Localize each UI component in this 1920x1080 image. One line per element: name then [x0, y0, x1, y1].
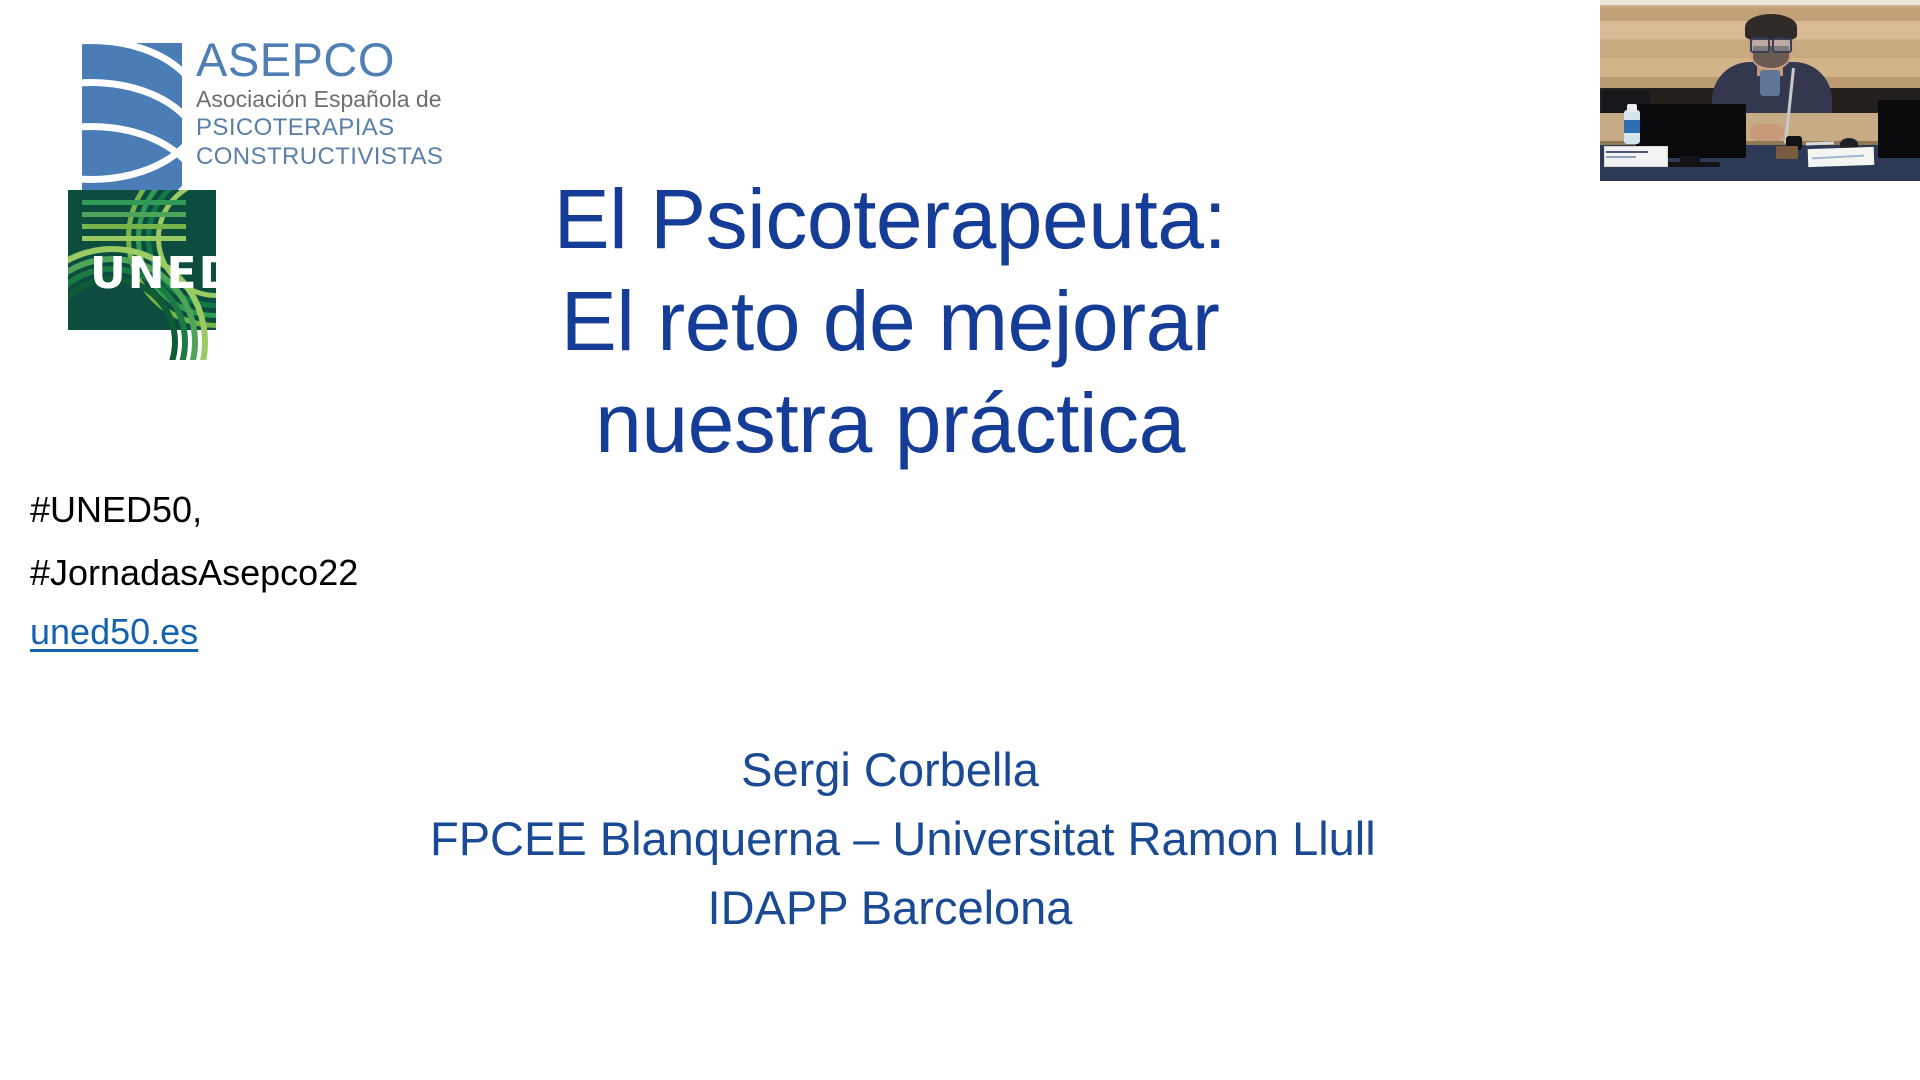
slide-title: El Psicoterapeuta: El reto de mejorar nu…: [500, 168, 1280, 474]
asepco-subtitle-2: PSICOTERAPIAS: [196, 113, 526, 142]
speaker-glasses: [1750, 36, 1792, 49]
presentation-slide: ASEPCO Asociación Española de PSICOTERAP…: [0, 0, 1920, 1080]
monitor-right: [1878, 100, 1920, 158]
speaker-hands: [1750, 124, 1784, 141]
name-plate-line-2: [1606, 156, 1636, 158]
author-name: Sergi Corbella: [430, 735, 1350, 804]
hashtag-line-1: #UNED50,: [30, 478, 500, 541]
asepco-arcs-mark-icon: [74, 43, 182, 191]
asepco-logo: ASEPCO Asociación Española de PSICOTERAP…: [60, 35, 520, 200]
author-affiliation: FPCEE Blanquerna – Universitat Ramon Llu…: [430, 804, 1350, 873]
uned50-link[interactable]: uned50.es: [30, 604, 198, 660]
asepco-wordmark: ASEPCO Asociación Española de PSICOTERAP…: [196, 35, 526, 171]
hashtag-block: #UNED50, #JornadasAsepco22 uned50.es: [30, 478, 500, 660]
title-line-2: El reto de mejorar: [500, 270, 1280, 372]
water-bottle-cap: [1627, 104, 1637, 112]
title-line-1: El Psicoterapeuta:: [500, 168, 1280, 270]
hashtag-line-2: #JornadasAsepco22: [30, 541, 500, 604]
author-block: Sergi Corbella FPCEE Blanquerna – Univer…: [430, 735, 1350, 942]
author-institute: IDAPP Barcelona: [430, 873, 1350, 942]
title-line-3: nuestra práctica: [500, 372, 1280, 474]
ceiling-strip: [1600, 0, 1920, 5]
uned-logo: UNED: [68, 190, 238, 360]
asepco-subtitle-3: CONSTRUCTIVISTAS: [196, 142, 526, 171]
asepco-name: ASEPCO: [196, 35, 526, 85]
phone-on-desk: [1776, 146, 1798, 159]
speaker-video-overlay[interactable]: [1600, 0, 1920, 181]
speaker-shirt: [1760, 70, 1780, 96]
asepco-subtitle-1: Asociación Española de: [196, 85, 526, 113]
water-bottle-label: [1624, 120, 1640, 133]
monitor-left-base: [1662, 162, 1720, 167]
name-plate-line-1: [1606, 151, 1648, 153]
uned-wordmark: UNED: [90, 252, 237, 296]
